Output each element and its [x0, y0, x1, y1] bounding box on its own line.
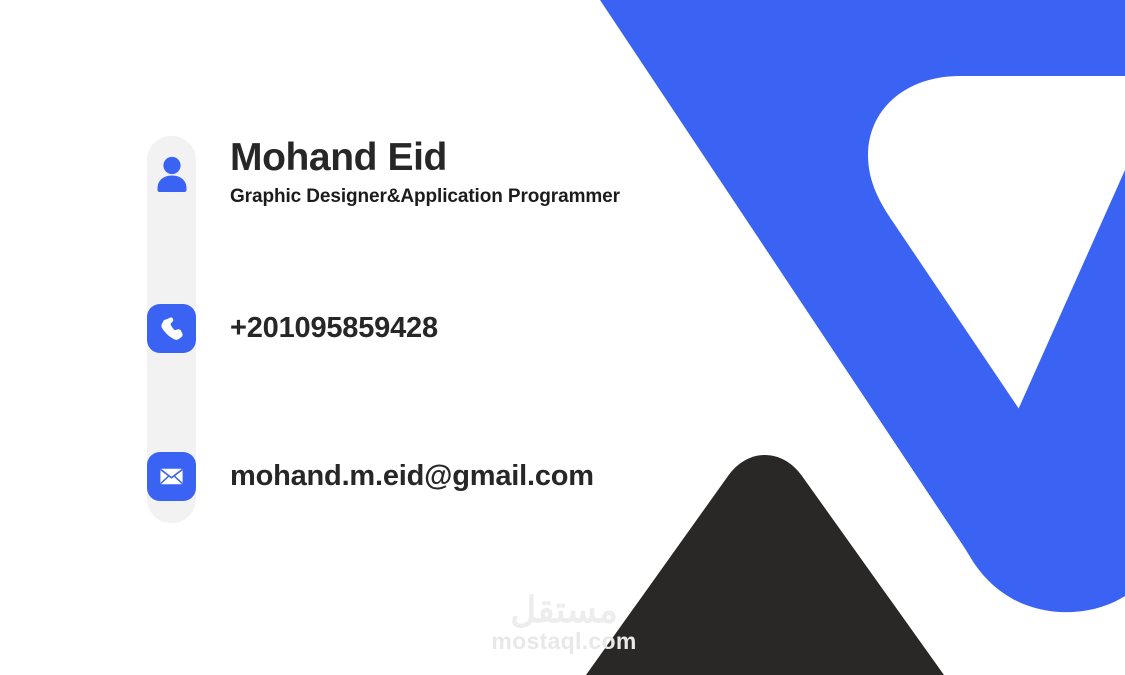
- watermark-latin-text: mostaql.com: [466, 630, 662, 653]
- blue-chevron-lower-arm: [960, 170, 1125, 612]
- contact-row-email[interactable]: mohand.m.eid@gmail.com: [147, 452, 594, 501]
- watermark-arabic-text: مستقل: [466, 592, 662, 628]
- person-name: Mohand Eid: [230, 138, 620, 179]
- phone-icon[interactable]: [147, 304, 196, 353]
- watermark: مستقل mostaql.com: [466, 592, 662, 653]
- contact-row-name: Mohand Eid Graphic Designer&Application …: [147, 136, 620, 208]
- email-text-group: mohand.m.eid@gmail.com: [230, 460, 594, 493]
- business-card: Mohand Eid Graphic Designer&Application …: [0, 0, 1125, 675]
- phone-number: +201095859428: [230, 312, 438, 345]
- person-job-title: Graphic Designer&Application Programmer: [230, 186, 620, 208]
- contact-block: Mohand Eid Graphic Designer&Application …: [147, 136, 707, 526]
- phone-text-group: +201095859428: [230, 312, 438, 345]
- envelope-icon[interactable]: [147, 452, 196, 501]
- contact-row-phone[interactable]: +201095859428: [147, 304, 438, 353]
- email-address: mohand.m.eid@gmail.com: [230, 460, 594, 493]
- name-text-group: Mohand Eid Graphic Designer&Application …: [230, 138, 620, 208]
- person-icon: [147, 147, 196, 196]
